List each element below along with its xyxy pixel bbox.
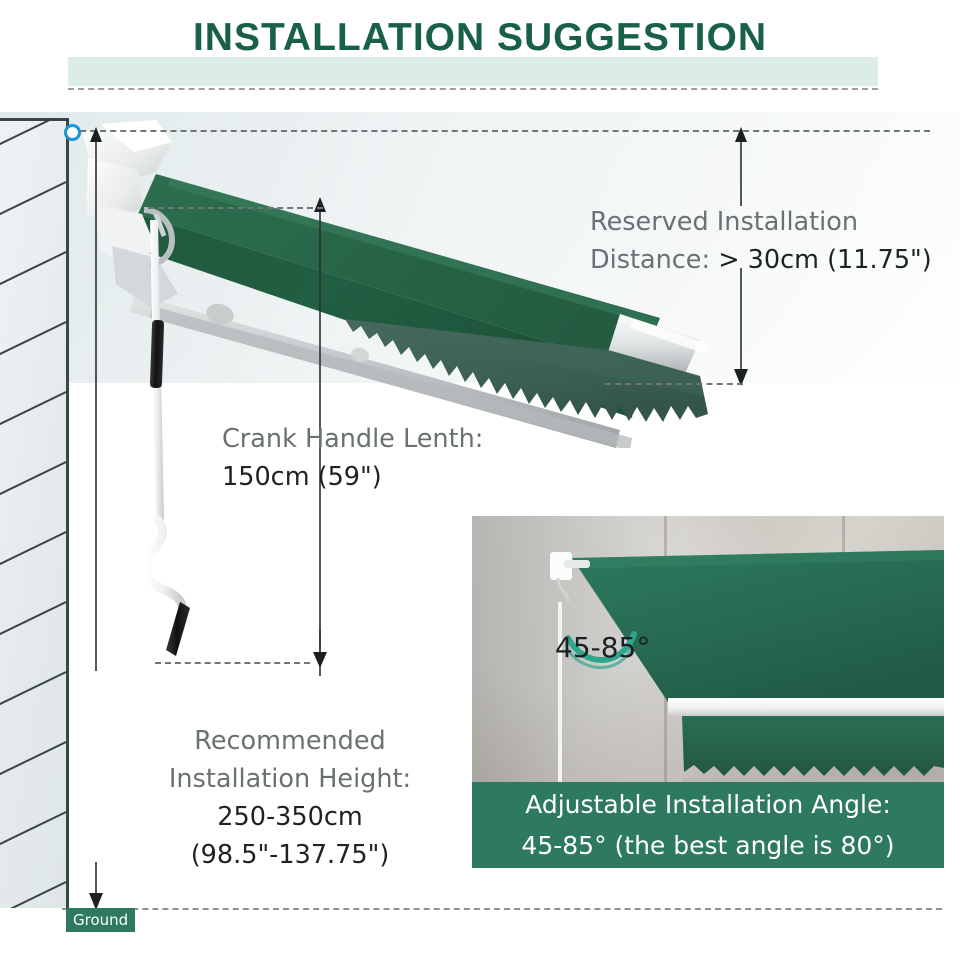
- photo-caption-line1: Adjustable Installation Angle:: [472, 784, 944, 825]
- photo-caption-line2: 45-85° (the best angle is 80°): [472, 825, 944, 866]
- crank-bottom-arrow: [310, 630, 330, 670]
- callout-crank-handle-length: Crank Handle Lenth: 150cm (59"): [222, 420, 483, 496]
- installation-angle-photo: Adjustable Installation Angle: 45-85° (t…: [472, 516, 944, 868]
- recommended-height-value-in: (98.5"-137.75"): [125, 836, 455, 874]
- title-divider: [68, 88, 878, 90]
- crank-length-value: 150cm (59"): [222, 458, 483, 496]
- ground-label-badge: Ground: [66, 908, 135, 932]
- building-wall: [0, 118, 69, 908]
- wall-top-marker-dot: [64, 124, 81, 141]
- crank-handle-illustration: [120, 220, 230, 680]
- bracket-level-dashed-line: [148, 207, 323, 209]
- reserved-distance-label: Distance:: [590, 245, 718, 275]
- recommended-height-line2: Installation Height:: [125, 760, 455, 798]
- ground-level-arrow: [86, 862, 106, 912]
- awning-top-dashed-line: [605, 383, 743, 385]
- reserved-distance-bottom-arrow: [731, 268, 751, 390]
- photo-caption: Adjustable Installation Angle: 45-85° (t…: [472, 782, 944, 868]
- reserved-distance-line2: Distance: > 30cm (11.75"): [590, 241, 932, 279]
- ground-dashed-line: [62, 908, 942, 910]
- title-banner: [68, 57, 878, 86]
- crank-length-label: Crank Handle Lenth:: [222, 420, 483, 458]
- page-title: INSTALLATION SUGGESTION: [0, 16, 960, 60]
- callout-reserved-distance: Reserved Installation Distance: > 30cm (…: [590, 203, 932, 279]
- top-reference-dashed-line: [70, 130, 930, 132]
- photo-angle-overlay-label: 45-85°: [555, 631, 650, 664]
- recommended-height-value-cm: 250-350cm: [125, 798, 455, 836]
- installation-suggestion-infographic: INSTALLATION SUGGESTION: [0, 0, 960, 960]
- reserved-distance-line1: Reserved Installation: [590, 203, 932, 241]
- installation-height-dimension-line: [86, 126, 106, 671]
- reserved-distance-value: > 30cm (11.75"): [718, 245, 932, 275]
- wall-hatching-icon: [0, 118, 66, 908]
- callout-recommended-height: Recommended Installation Height: 250-350…: [125, 722, 455, 874]
- crank-bottom-dashed-line: [155, 662, 310, 664]
- recommended-height-line1: Recommended: [125, 722, 455, 760]
- reserved-distance-top-arrow: [731, 126, 751, 206]
